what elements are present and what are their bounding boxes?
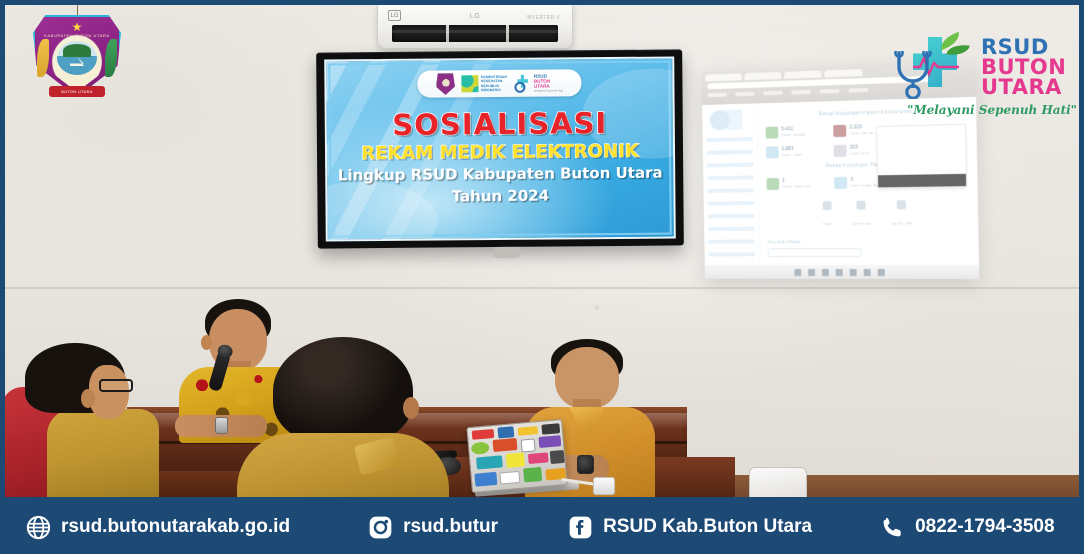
quick-action-pasien[interactable]: Pasien — [822, 201, 832, 230]
footer-facebook[interactable]: RSUD Kab.Buton Utara — [568, 515, 812, 540]
footer-phone[interactable]: 0822-1794-3508 — [880, 515, 1054, 540]
rsud-small-tagline: Melayani Sepenuh Hati — [534, 89, 563, 93]
footer-instagram-label: rsud.butur — [403, 516, 498, 538]
footer-facebook-label: RSUD Kab.Buton Utara — [603, 516, 812, 538]
rsud-logo-text: RSUD BUTON UTARA — [981, 37, 1066, 97]
face — [89, 365, 129, 419]
kemenkes-mark-icon — [461, 75, 478, 92]
rsud-mark-icon — [513, 74, 532, 93]
rsud-small-label: RSUDBUTONUTARA — [534, 73, 563, 88]
ac-vent — [392, 25, 558, 42]
report-icon — [857, 201, 866, 210]
power-adapter — [593, 477, 615, 495]
square-icon — [834, 177, 847, 189]
attendee-center-back-view — [237, 337, 449, 502]
event-banner: KEMENTERIANKESEHATANREPUBLIKINDONESIA RS… — [324, 56, 676, 241]
square-icon — [766, 178, 779, 190]
square-icon — [766, 146, 779, 158]
rsud-tagline: "Melayani Sepenuh Hati" — [907, 103, 1077, 117]
ac-brand-logo: LG — [388, 10, 401, 21]
footer-website-label: rsud.butonutarakab.go.id — [61, 516, 290, 538]
emr-application: Rekap Kunjungan Pasien Keseluruhan 5.411… — [702, 97, 979, 265]
stat-label: Pasien BPJS — [850, 151, 870, 156]
popup-toolbar — [878, 174, 966, 188]
square-icon — [834, 145, 847, 157]
khaki-uniform — [47, 409, 159, 502]
emblem-arc-text: KABUPATEN BUTON UTARA — [44, 33, 110, 38]
mountain-icon — [63, 44, 91, 57]
ear — [81, 389, 95, 408]
bookmarks-bar[interactable] — [708, 88, 869, 97]
ear — [403, 397, 419, 419]
wristwatch — [577, 455, 594, 474]
quick-action-label: Lap Penyakit — [852, 222, 871, 226]
patient-search-heading: Pencarian Pasien — [768, 238, 971, 244]
emr-sidebar-logo — [710, 110, 743, 130]
rsud-line-2: BUTON — [981, 57, 1066, 77]
quick-actions: Pasien Lap Penyakit Lap Stok Obat — [767, 199, 970, 230]
quick-action-lap-penyakit[interactable]: Lap Penyakit — [852, 201, 871, 230]
wristwatch — [215, 417, 228, 434]
medicine-icon — [896, 200, 905, 209]
banner-scope: Lingkup RSUD Kabupaten Buton Utara — [327, 163, 673, 184]
emblem-ribbon: BUTON UTARA — [49, 86, 105, 97]
cotton-stalk-right-icon — [105, 39, 117, 77]
kemenkes-logo: KEMENTERIANKESEHATANREPUBLIKINDONESIA — [461, 75, 507, 92]
rsud-line-3: UTARA — [981, 77, 1066, 97]
quick-action-label: Lap Stok Obat — [891, 221, 912, 225]
stat-label: Pasien Lain-lain — [850, 131, 874, 136]
ear — [201, 335, 212, 350]
tv-display: KEMENTERIANKESEHATANREPUBLIKINDONESIA RS… — [316, 49, 684, 248]
rsud-logo-small: RSUDBUTONUTARA Melayani Sepenuh Hati — [513, 73, 563, 93]
rsud-line-1: RSUD — [981, 37, 1066, 57]
eyeglasses — [99, 379, 133, 392]
ac-center-logo: LG — [470, 13, 480, 20]
facebook-icon — [568, 515, 593, 540]
rsud-logo-mark — [891, 35, 975, 101]
banner-title: SOSIALISASI — [327, 105, 673, 142]
banner-year: Tahun 2024 — [327, 185, 673, 206]
stat-label: Pasien Umum — [782, 152, 803, 156]
quick-action-lap-stok-obat[interactable]: Lap Stok Obat — [890, 200, 911, 230]
emr-sidebar[interactable] — [702, 103, 760, 265]
footer-phone-label: 0822-1794-3508 — [915, 516, 1054, 538]
chart-icon — [834, 125, 847, 137]
patient-search-input[interactable] — [768, 248, 862, 257]
chart-icon — [766, 127, 779, 139]
banner-logo-strip: KEMENTERIANKESEHATANREPUBLIKINDONESIA RS… — [417, 69, 581, 97]
emblem-scene — [57, 41, 97, 75]
stat-card[interactable]: 1.881 Pasien Umum — [766, 143, 828, 160]
stat-card[interactable]: 5.411 Pasien Terdaftar — [766, 123, 828, 140]
globe-icon — [26, 515, 51, 540]
popup-window[interactable] — [876, 124, 967, 189]
hanging-string — [77, 3, 78, 17]
wall-seam — [5, 287, 1079, 289]
meeting-photo: LG LG INVERTER V KEMENTERIANKESEHATANREP… — [0, 0, 1084, 502]
hair — [273, 337, 413, 445]
khaki-uniform — [237, 433, 449, 502]
stat-label: Pasien Rawat Jalan — [850, 183, 880, 188]
emr-sidebar-menu[interactable] — [706, 137, 756, 279]
rsud-buton-utara-logo: RSUD BUTON UTARA "Melayani Sepenuh Hati" — [885, 35, 1065, 121]
boat-icon — [70, 57, 84, 66]
kabupaten-buton-utara-emblem-icon — [436, 73, 455, 95]
event-photo-poster: LG LG INVERTER V KEMENTERIANKESEHATANREP… — [0, 0, 1084, 554]
users-icon — [823, 201, 832, 210]
star-icon: ★ — [72, 21, 83, 33]
kemenkes-label: KEMENTERIANKESEHATANREPUBLIKINDONESIA — [481, 75, 507, 92]
ac-model-label: INVERTER V — [526, 15, 560, 21]
stethoscope-icon — [893, 51, 959, 99]
attendee-left-with-glasses — [7, 343, 157, 502]
laptop-with-stickers — [466, 419, 567, 493]
instagram-icon — [368, 515, 393, 540]
stat-card[interactable]: 1 Pasien Rawat Inap — [766, 175, 828, 192]
kabupaten-buton-utara-emblem: ★ KABUPATEN BUTON UTARA BUTON UTARA — [25, 7, 129, 99]
stat-label: Pasien Rawat Inap — [782, 184, 810, 188]
banner-subtitle: REKAM MEDIK ELEKTRONIK — [327, 140, 673, 164]
windows-taskbar[interactable] — [705, 265, 979, 279]
stat-label: Pasien Terdaftar — [781, 132, 805, 137]
footer-website[interactable]: rsud.butonutarakab.go.id — [26, 515, 290, 540]
quick-action-label: Pasien — [823, 222, 833, 226]
white-chair — [749, 467, 807, 502]
phone-icon — [880, 515, 905, 540]
air-conditioner: LG LG INVERTER V — [377, 5, 573, 49]
wall-mark — [595, 305, 599, 310]
footer-instagram[interactable]: rsud.butur — [368, 515, 498, 540]
contact-footer-bar: rsud.butonutarakab.go.id rsud.butur RSUD… — [0, 500, 1084, 554]
